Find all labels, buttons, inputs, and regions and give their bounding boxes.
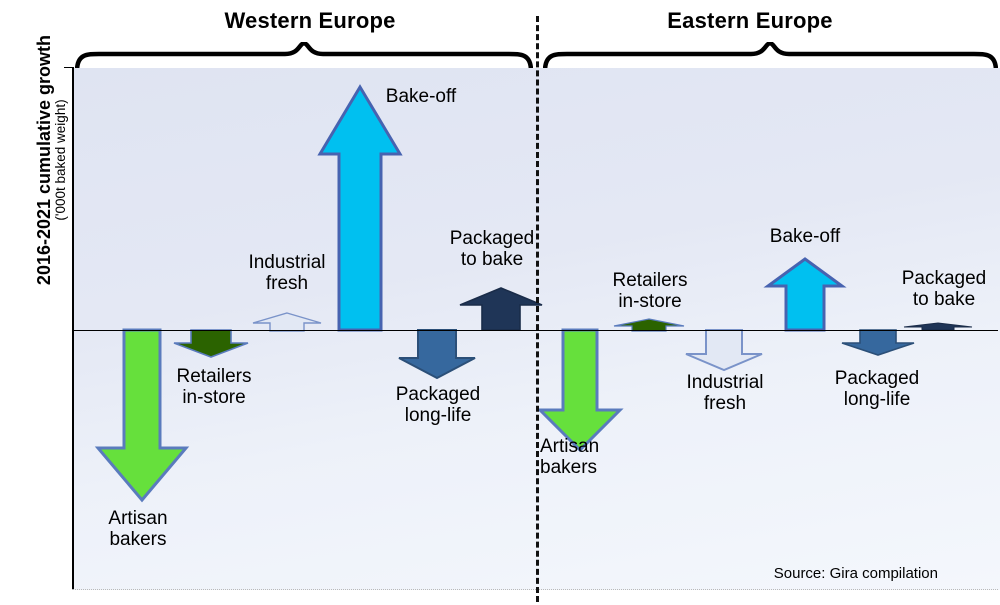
label-retailers-in-store-west: Retailers in-store xyxy=(152,366,276,409)
label-packaged-to-bake-east: Packaged to bake xyxy=(884,268,1000,311)
source-note: Source: Gira compilation xyxy=(774,565,938,582)
arrow-up-industrial-fresh-west xyxy=(251,312,323,332)
arrow-down-artisan-bakers-east xyxy=(538,330,622,452)
label-industrial-fresh-west: Industrial fresh xyxy=(212,252,362,295)
arrow-down-packaged-long-life-east xyxy=(840,330,916,356)
arrow-up-bake-off-east xyxy=(766,258,844,331)
arrow-down-packaged-long-life-west xyxy=(396,330,478,380)
arrow-down-industrial-fresh-east xyxy=(684,330,764,372)
y-axis-subtitle: ('000t baked weight) xyxy=(54,99,68,220)
label-retailers-in-store-east: Retailers in-store xyxy=(588,270,712,313)
region-divider-dashed xyxy=(536,16,539,602)
arrow-down-retailers-in-store-west xyxy=(172,330,250,358)
arrow-up-packaged-to-bake-west xyxy=(458,287,544,331)
plot-bottom-border xyxy=(72,589,998,590)
axis-top-tick xyxy=(64,67,74,68)
label-industrial-fresh-east: Industrial fresh xyxy=(660,372,790,415)
y-axis-title: 2016-2021 cumulative growth xyxy=(35,35,54,285)
zero-axis-line xyxy=(72,330,998,331)
section-title-eastern-europe: Eastern Europe xyxy=(620,8,880,34)
y-axis-label: 2016-2021 cumulative growth ('000t baked… xyxy=(32,0,72,360)
label-bake-off-east: Bake-off xyxy=(750,226,860,247)
label-packaged-to-bake-west: Packaged to bake xyxy=(432,228,552,271)
label-packaged-long-life-west: Packaged long-life xyxy=(368,384,508,427)
section-title-western-europe: Western Europe xyxy=(180,8,440,34)
label-artisan-bakers-east: Artisan bakers xyxy=(540,436,660,479)
label-artisan-bakers-west: Artisan bakers xyxy=(78,508,198,551)
label-bake-off-west: Bake-off xyxy=(366,86,476,107)
label-packaged-long-life-east: Packaged long-life xyxy=(812,368,942,411)
